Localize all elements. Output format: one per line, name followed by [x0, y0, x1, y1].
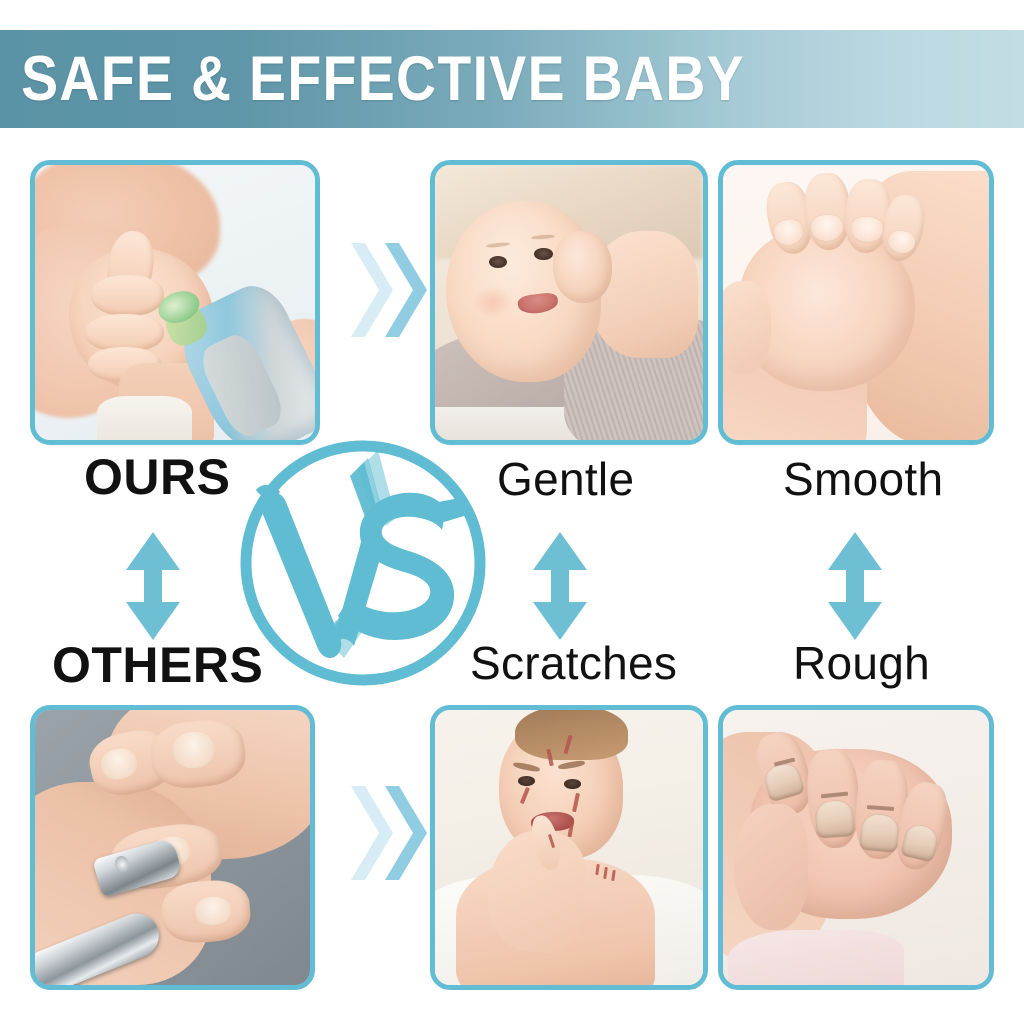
row-label-ours: OURS — [84, 452, 230, 502]
happy-baby-image — [435, 165, 703, 440]
crying-baby-image — [435, 710, 703, 985]
header-banner: SAFE & EFFECTIVE BABY — [0, 30, 1024, 128]
nail-clipper-photo[interactable] — [30, 705, 315, 990]
happy-baby-photo[interactable] — [430, 160, 708, 445]
smooth-nails-image — [723, 165, 989, 440]
product-in-use-image — [35, 165, 315, 440]
vertical-arrow-icon — [820, 530, 890, 642]
smooth-nails-photo[interactable] — [718, 160, 994, 445]
rough-nails-photo[interactable] — [718, 705, 994, 990]
benefit-label-smooth: Smooth — [783, 456, 943, 502]
double-headed-vertical-arrow — [820, 530, 890, 647]
problem-label-scratches: Scratches — [470, 640, 677, 686]
benefit-label-gentle: Gentle — [497, 456, 634, 502]
problem-label-rough: Rough — [793, 640, 930, 686]
row-label-others: OTHERS — [52, 640, 263, 690]
double-headed-vertical-arrow — [118, 530, 188, 647]
nail-clipper-image — [35, 710, 310, 985]
vertical-arrow-icon — [525, 530, 595, 642]
crying-baby-photo[interactable] — [430, 705, 708, 990]
page-title: SAFE & EFFECTIVE BABY — [0, 48, 745, 111]
product-in-use-photo[interactable] — [30, 160, 320, 445]
double-headed-vertical-arrow — [525, 530, 595, 647]
chevron-right-icon — [345, 235, 435, 345]
vs-brush-icon — [232, 432, 494, 694]
vertical-arrow-icon — [118, 530, 188, 642]
vs-badge — [232, 432, 494, 699]
double-chevron-right — [345, 235, 435, 350]
double-chevron-right — [345, 778, 435, 893]
chevron-right-icon — [345, 778, 435, 888]
rough-nails-image — [723, 710, 989, 985]
